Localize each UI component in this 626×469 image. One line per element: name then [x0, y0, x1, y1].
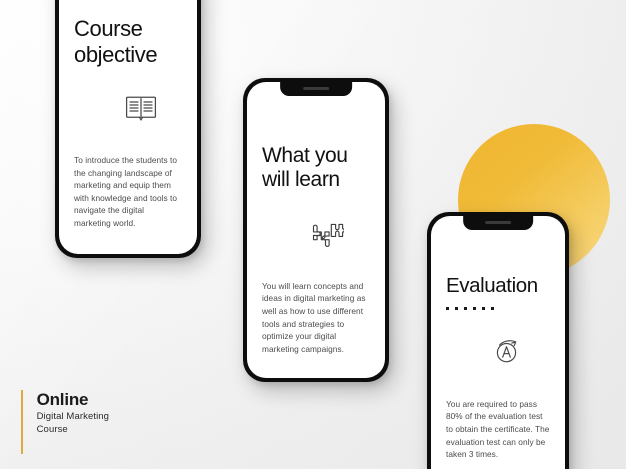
divider-dot — [446, 307, 449, 310]
grade-a-circle-icon — [490, 336, 550, 371]
phone-mockup-evaluation: Evaluation — [427, 212, 569, 469]
slide-body-course-objective: To introduce the students to the changin… — [74, 154, 182, 230]
phone-mockup-course-objective: Course objective — [55, 0, 201, 258]
dotted-divider — [446, 307, 550, 310]
open-book-icon — [125, 95, 182, 126]
brand-name: Online — [37, 390, 109, 410]
brand-text-group: Online Digital Marketing Course — [37, 390, 109, 437]
brand-accent-rule — [21, 390, 23, 454]
poster-canvas: Course objective — [0, 0, 626, 469]
phone-notch-icon — [463, 216, 533, 230]
brand-block: Online Digital Marketing Course — [21, 390, 109, 454]
slide-body-what-you-will-learn: You will learn concepts and ideas in dig… — [262, 280, 370, 356]
brand-subtitle-line-2: Course — [37, 423, 109, 436]
brand-subtitle-line-1: Digital Marketing — [37, 410, 109, 423]
phone-screen-1: Course objective — [59, 0, 197, 254]
divider-dot — [491, 307, 494, 310]
divider-dot — [464, 307, 467, 310]
puzzle-pieces-icon — [310, 219, 370, 256]
phone-screen-3: Evaluation — [431, 216, 565, 469]
slide-title-what-you-will-learn: What you will learn — [262, 144, 370, 193]
slide-content-1: Course objective — [59, 16, 197, 230]
slide-content-3: Evaluation — [431, 274, 565, 461]
divider-dot — [473, 307, 476, 310]
phone-notch-icon — [280, 82, 352, 96]
divider-dot — [455, 307, 458, 310]
divider-dot — [482, 307, 485, 310]
phone-mockup-what-you-will-learn: What you will learn You will learn conce… — [243, 78, 389, 382]
slide-body-evaluation: You are required to pass 80% of the eval… — [446, 398, 550, 461]
slide-title-evaluation: Evaluation — [446, 274, 550, 298]
phone-screen-2: What you will learn You will learn conce… — [247, 82, 385, 378]
slide-content-2: What you will learn You will learn conce… — [247, 144, 385, 355]
slide-title-course-objective: Course objective — [74, 16, 182, 67]
